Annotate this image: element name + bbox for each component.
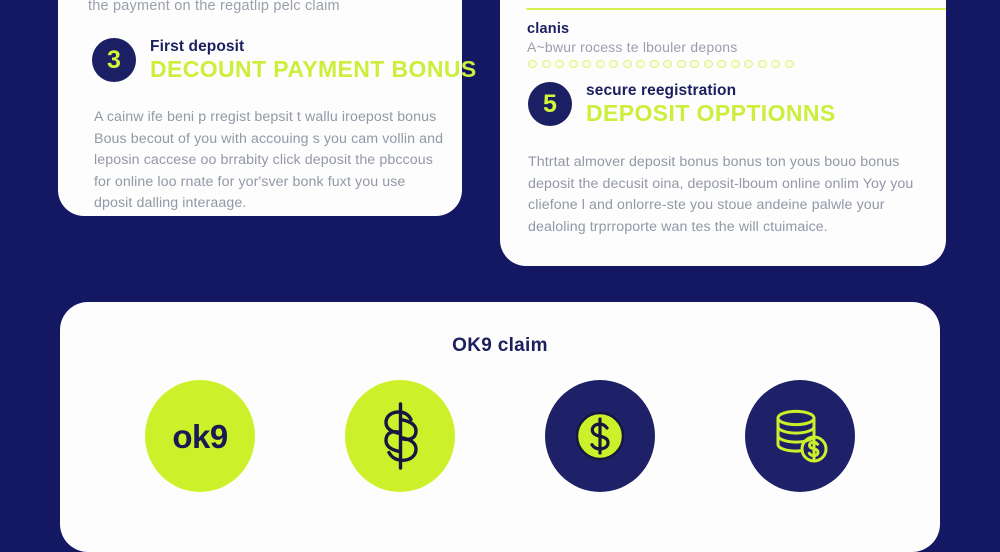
progress-dot bbox=[704, 60, 713, 68]
ornament-mini-subtitle: A~bwur rocess te lbouler depons bbox=[527, 39, 738, 55]
progress-dot bbox=[636, 60, 645, 68]
progress-dot bbox=[731, 60, 740, 68]
ok9-logo-label: ok9 bbox=[172, 420, 227, 453]
progress-dot bbox=[555, 60, 564, 68]
step-5-titles: secure reegistration DEPOSIT OPPTIONNS bbox=[586, 82, 836, 126]
progress-dot bbox=[785, 60, 794, 68]
progress-dot bbox=[650, 60, 659, 68]
progress-dot-row bbox=[528, 60, 794, 68]
progress-dot bbox=[528, 60, 537, 68]
progress-dot bbox=[569, 60, 578, 68]
infographic-stage: the payment on the regatlip pelc claim 3… bbox=[0, 0, 1000, 500]
step-5-kicker: secure reegistration bbox=[586, 82, 836, 100]
progress-dot bbox=[663, 60, 672, 68]
step-number-badge: 3 bbox=[92, 38, 136, 82]
clipped-top-line: the payment on the regatlip pelc claim bbox=[88, 0, 340, 14]
progress-dot bbox=[690, 60, 699, 68]
ok9-logo-icon[interactable]: ok9 bbox=[145, 380, 255, 492]
dollar-sign-icon[interactable] bbox=[345, 380, 455, 492]
progress-dot bbox=[677, 60, 686, 68]
coin-stack-icon[interactable] bbox=[745, 380, 855, 492]
accent-rule-divider bbox=[526, 8, 946, 10]
progress-dot bbox=[609, 60, 618, 68]
step-3-kicker: First deposit bbox=[150, 38, 477, 56]
progress-dot bbox=[623, 60, 632, 68]
progress-dot bbox=[717, 60, 726, 68]
deposit-options-card: clanis A~bwur rocess te lbouler depons bbox=[500, 0, 946, 266]
progress-dot bbox=[744, 60, 753, 68]
progress-dot bbox=[771, 60, 780, 68]
progress-dot bbox=[582, 60, 591, 68]
progress-dot bbox=[596, 60, 605, 68]
step-3-headline: DECOUNT PAYMENT BONUS bbox=[150, 56, 477, 82]
step-5-headline: DEPOSIT OPPTIONNS bbox=[586, 100, 836, 126]
step-3-header: 3 First deposit DECOUNT PAYMENT BONUS bbox=[92, 38, 477, 82]
step-3-titles: First deposit DECOUNT PAYMENT BONUS bbox=[150, 38, 477, 82]
step-5-header: 5 secure reegistration DEPOSIT OPPTIONNS bbox=[528, 82, 836, 126]
progress-dot bbox=[542, 60, 551, 68]
step-3-body-text: A cainw ife beni p rregist bepsit t wall… bbox=[94, 107, 446, 215]
progress-dot bbox=[758, 60, 767, 68]
ok9-claim-card: OK9 claim ok9 bbox=[60, 302, 940, 552]
ok9-claim-title: OK9 claim bbox=[60, 335, 940, 357]
step-number-badge: 5 bbox=[528, 82, 572, 126]
first-deposit-card: the payment on the regatlip pelc claim 3… bbox=[58, 0, 462, 216]
coin-dollar-icon[interactable] bbox=[545, 380, 655, 492]
step-5-body-text: Thtrtat almover deposit bonus bonus ton … bbox=[528, 152, 924, 238]
ornament-mini-title: clanis bbox=[527, 21, 569, 37]
claim-icon-row: ok9 bbox=[100, 380, 900, 492]
